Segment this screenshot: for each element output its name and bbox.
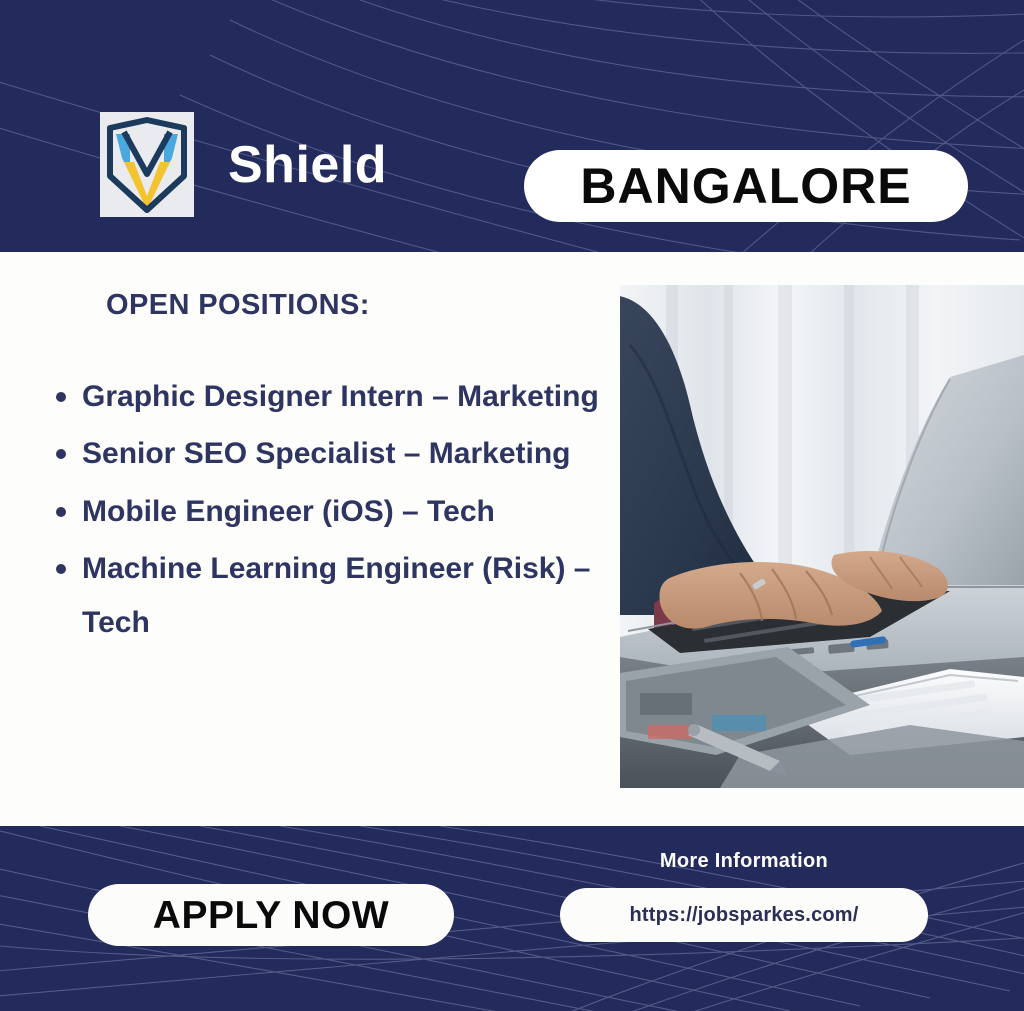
website-url-pill[interactable]: https://jobsparkes.com/ — [560, 888, 928, 942]
person-typing-on-laptop-photo — [620, 285, 1024, 788]
apply-now-button[interactable]: APPLY NOW — [88, 884, 454, 946]
main-content-area: OPEN POSITIONS: Graphic Designer Intern … — [0, 252, 1024, 826]
list-item: Senior SEO Specialist – Marketing — [82, 427, 654, 480]
brand-name: Shield — [228, 139, 387, 191]
city-badge: BANGALORE — [524, 150, 968, 222]
shield-logo-icon — [100, 112, 194, 217]
website-url-text: https://jobsparkes.com/ — [629, 905, 858, 925]
list-item: Mobile Engineer (iOS) – Tech — [82, 485, 654, 538]
more-information-label: More Information — [560, 850, 928, 873]
header-band: Shield BANGALORE — [0, 0, 1024, 252]
city-badge-label: BANGALORE — [580, 161, 911, 211]
open-positions-heading: OPEN POSITIONS: — [106, 289, 370, 322]
brand-row: Shield — [100, 112, 387, 217]
open-positions-list: Graphic Designer Intern – Marketing Seni… — [40, 370, 654, 653]
list-item: Graphic Designer Intern – Marketing — [82, 370, 654, 423]
footer-band: APPLY NOW More Information https://jobsp… — [0, 826, 1024, 1011]
apply-now-label: APPLY NOW — [153, 896, 389, 935]
recruitment-poster: Shield BANGALORE OPEN POSITIONS: Graphic… — [0, 0, 1024, 1011]
list-item: Machine Learning Engineer (Risk) – Tech — [82, 542, 654, 649]
